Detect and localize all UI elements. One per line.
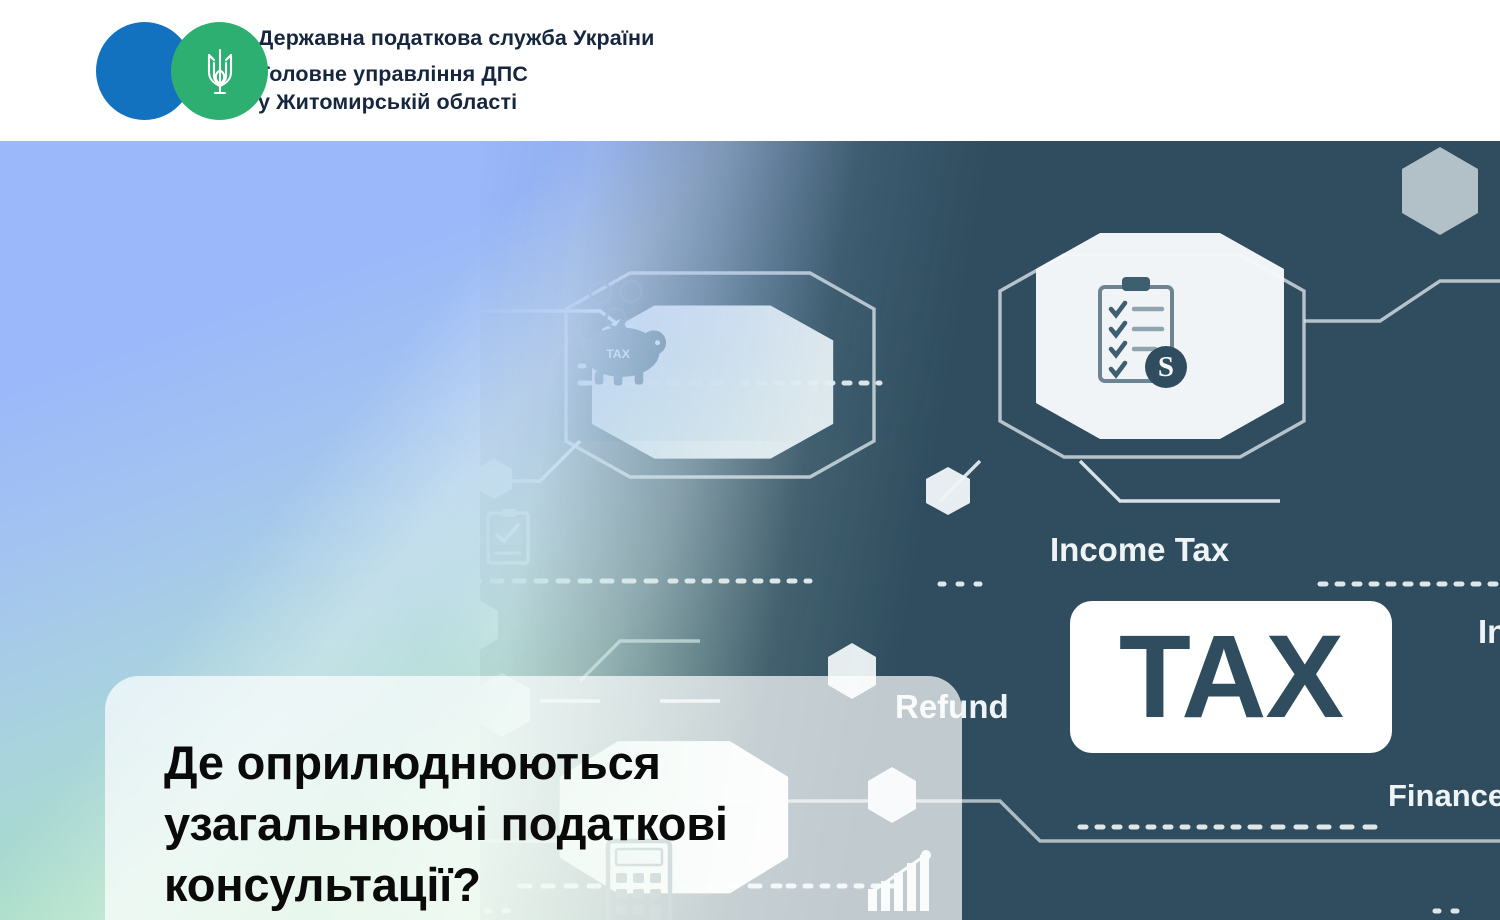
header-text-block: Державна податкова служба України Головн… xyxy=(258,24,654,116)
org-title: Державна податкова служба України xyxy=(258,24,654,52)
hero-banner: TAX xyxy=(0,141,1500,920)
page-title: Де оприлюднюються узагальнюючі податкові… xyxy=(164,732,924,915)
tax-card: TAX xyxy=(1070,601,1392,753)
tax-card-label: TAX xyxy=(1119,618,1343,736)
svg-text:TAX: TAX xyxy=(606,347,631,361)
income-tax-clipboard-icon xyxy=(488,509,528,563)
org-subtitle-line1: Головне управління ДПС xyxy=(258,60,654,88)
income-tax-label: Income Tax xyxy=(1050,531,1229,569)
headline-panel: Де оприлюднюються узагальнюючі податкові… xyxy=(105,676,962,920)
org-subtitle: Головне управління ДПС у Житомирській об… xyxy=(258,60,654,117)
svg-text:S: S xyxy=(1158,351,1174,383)
poster-root: Державна податкова служба України Головн… xyxy=(0,0,1500,920)
site-header: Державна податкова служба України Головн… xyxy=(0,0,1500,141)
ukraine-trident-icon xyxy=(203,46,237,98)
clipboard-hex xyxy=(1036,233,1284,439)
dps-logo xyxy=(96,22,246,120)
insurance-label: In xyxy=(1478,613,1500,651)
finance-label: Finance xyxy=(1388,778,1500,814)
org-subtitle-line2: у Житомирській області xyxy=(258,88,654,116)
